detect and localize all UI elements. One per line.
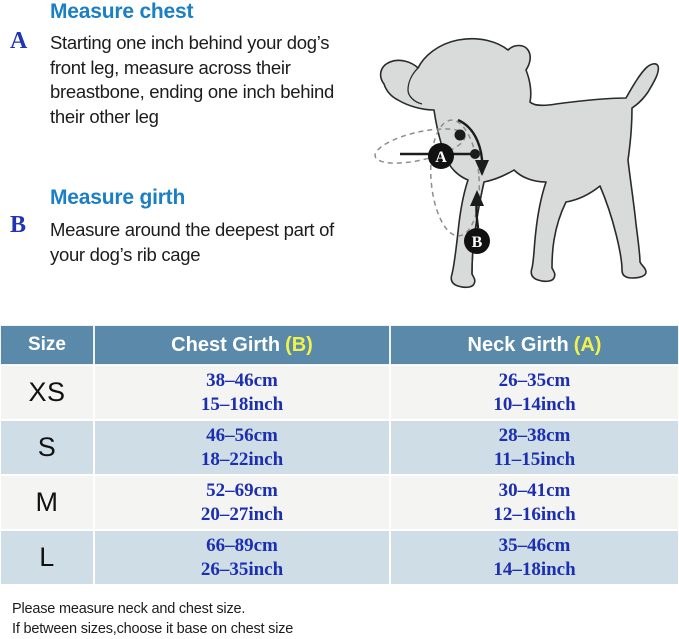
neck-cm: 35–46cm — [499, 534, 571, 558]
cell-size: L — [0, 530, 94, 585]
chest-cm: 38–46cm — [206, 369, 278, 393]
instruction-marker-b: B — [10, 212, 26, 239]
chest-inch: 18–22inch — [201, 448, 283, 472]
header-cell-chest-girth: Chest Girth (B) — [94, 325, 390, 365]
instruction-text-girth: Measure around the deepest part of your … — [50, 218, 340, 267]
chest-inch: 20–27inch — [201, 503, 283, 527]
cell-chest-girth: 38–46cm 15–18inch — [94, 365, 390, 420]
footer-line-2: If between sizes,choose it base on chest… — [12, 620, 572, 639]
size-label: XS — [28, 377, 65, 408]
size-label: S — [38, 432, 57, 463]
neck-cm: 26–35cm — [499, 369, 571, 393]
neck-inch: 12–16inch — [493, 503, 575, 527]
size-chart-table: Size Chest Girth (B) Neck Girth (A) XS 3… — [0, 325, 679, 585]
diagram-marker-a: A — [428, 143, 454, 169]
cell-chest-girth: 46–56cm 18–22inch — [94, 420, 390, 475]
header-chest-label: Chest Girth — [171, 334, 280, 357]
table-row: M 52–69cm 20–27inch 30–41cm 12–16inch — [0, 475, 679, 530]
instruction-text-chest: Starting one inch behind your dog’s fron… — [50, 31, 355, 129]
cell-chest-girth: 66–89cm 26–35inch — [94, 530, 390, 585]
instructions-panel: A Measure chest Starting one inch behind… — [0, 0, 360, 310]
cell-size: M — [0, 475, 94, 530]
footer-line-1: Please measure neck and chest size. — [12, 600, 572, 620]
size-guide-page: A Measure chest Starting one inch behind… — [0, 0, 679, 638]
table-row: S 46–56cm 18–22inch 28–38cm 11–15inch — [0, 420, 679, 475]
neck-cm: 28–38cm — [499, 424, 571, 448]
diagram-marker-b: B — [464, 228, 490, 254]
chest-cm: 66–89cm — [206, 534, 278, 558]
header-neck-marker: (A) — [574, 334, 602, 357]
cell-neck-girth: 28–38cm 11–15inch — [390, 420, 679, 475]
diagram-marker-b-label: B — [472, 234, 483, 251]
size-label: M — [36, 487, 59, 518]
cell-chest-girth: 52–69cm 20–27inch — [94, 475, 390, 530]
cell-neck-girth: 30–41cm 12–16inch — [390, 475, 679, 530]
diagram-marker-a-label: A — [435, 149, 447, 166]
neck-cm: 30–41cm — [499, 479, 571, 503]
chest-inch: 26–35inch — [201, 558, 283, 582]
table-header-row: Size Chest Girth (B) Neck Girth (A) — [0, 325, 679, 365]
instruction-marker-a: A — [10, 28, 27, 55]
chest-cm: 46–56cm — [206, 424, 278, 448]
table-row: L 66–89cm 26–35inch 35–46cm 14–18inch — [0, 530, 679, 585]
header-cell-neck-girth: Neck Girth (A) — [390, 325, 679, 365]
neck-inch: 14–18inch — [493, 558, 575, 582]
neck-inch: 11–15inch — [494, 448, 575, 472]
size-label: L — [39, 542, 55, 573]
measure-endpoint-dot-front — [470, 149, 480, 159]
chest-cm: 52–69cm — [206, 479, 278, 503]
table-row: XS 38–46cm 15–18inch 26–35cm 10–14inch — [0, 365, 679, 420]
instruction-heading-girth: Measure girth — [50, 186, 185, 210]
neck-inch: 10–14inch — [493, 393, 575, 417]
header-neck-label: Neck Girth — [468, 334, 569, 357]
measure-endpoint-dot-top — [455, 130, 466, 141]
cell-size: XS — [0, 365, 94, 420]
dog-body-shape — [381, 39, 659, 288]
dog-silhouette-icon — [381, 39, 659, 288]
header-cell-size: Size — [0, 325, 94, 365]
table-body: XS 38–46cm 15–18inch 26–35cm 10–14inch S… — [0, 365, 679, 585]
cell-neck-girth: 26–35cm 10–14inch — [390, 365, 679, 420]
cell-neck-girth: 35–46cm 14–18inch — [390, 530, 679, 585]
dog-measurement-diagram: A B — [338, 18, 679, 310]
header-chest-marker: (B) — [285, 334, 313, 357]
cell-size: S — [0, 420, 94, 475]
instruction-heading-chest: Measure chest — [50, 0, 193, 24]
footer-note: Please measure neck and chest size. If b… — [12, 600, 572, 639]
chest-inch: 15–18inch — [201, 393, 283, 417]
